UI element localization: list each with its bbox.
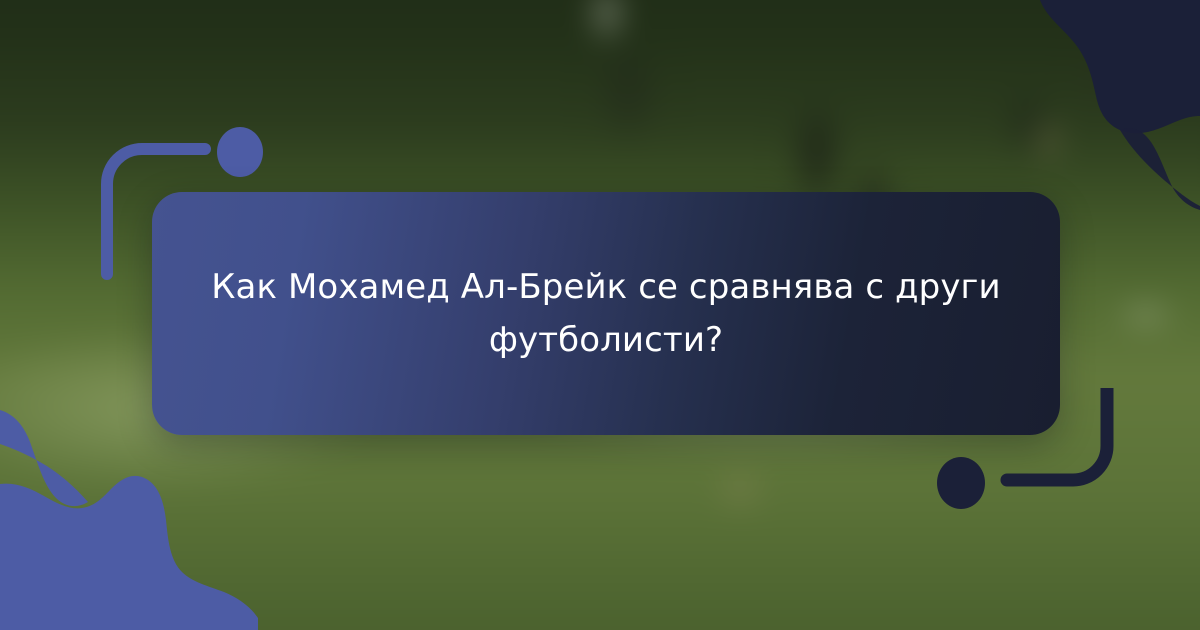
page-title: Как Мохамед Ал-Брейк се сравнява с други… xyxy=(210,261,1002,365)
social-card-image: Как Мохамед Ал-Брейк се сравнява с други… xyxy=(0,0,1200,630)
headline-card: Как Мохамед Ал-Брейк се сравнява с други… xyxy=(152,192,1060,435)
